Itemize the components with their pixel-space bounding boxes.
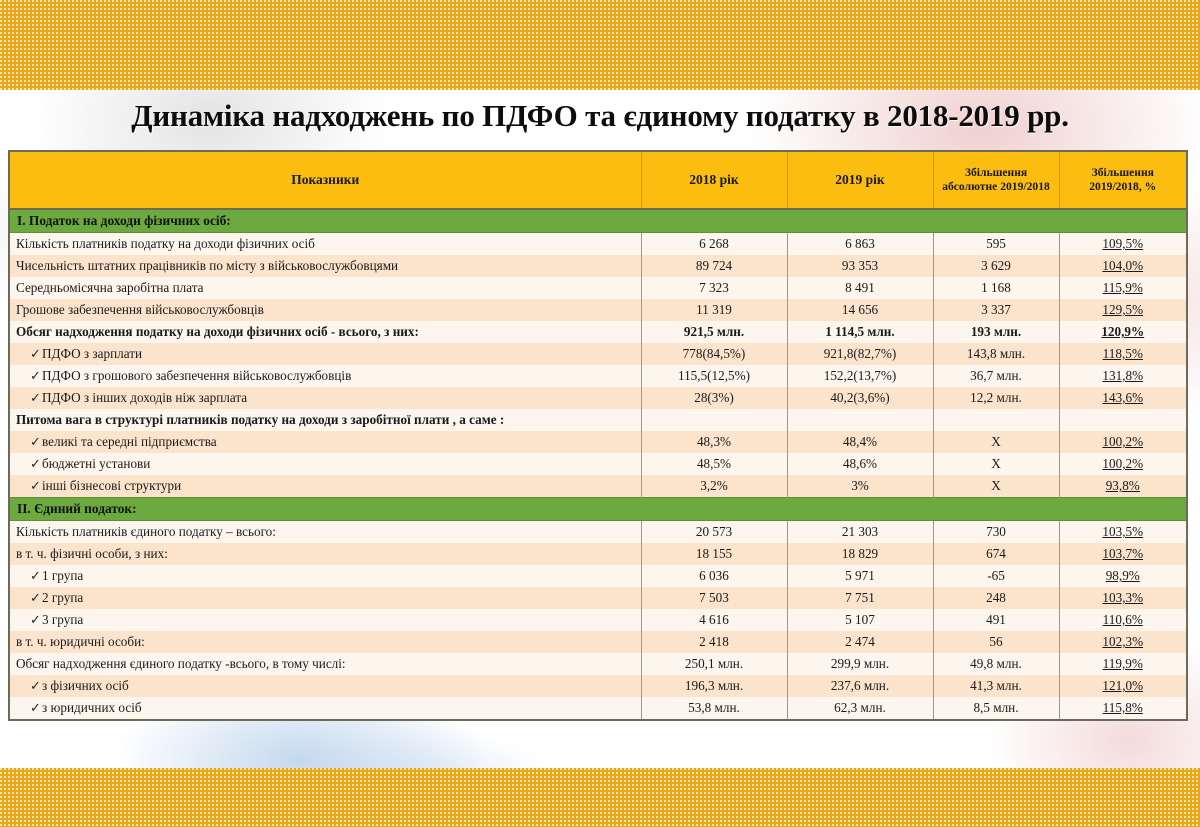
- cell-2018: 250,1 млн.: [641, 653, 787, 675]
- cell-percent: 129,5%: [1059, 299, 1186, 321]
- checkmark-icon: ✓: [16, 701, 42, 715]
- cell-2018: 6 036: [641, 565, 787, 587]
- row-label-cell: ✓інші бізнесові структури: [10, 475, 641, 498]
- cell-2018: 20 573: [641, 521, 787, 544]
- cell-2019: 62,3 млн.: [787, 697, 933, 719]
- cell-2019: 3%: [787, 475, 933, 498]
- table-row: в т. ч. юридичні особи:2 4182 47456102,3…: [10, 631, 1186, 653]
- table-row: Обсяг надходження єдиного податку -всьог…: [10, 653, 1186, 675]
- cell-2018: 6 268: [641, 233, 787, 256]
- checkmark-icon: ✓: [16, 479, 42, 493]
- table-row: ✓ПДФО з інших доходів ніж зарплата28(3%)…: [10, 387, 1186, 409]
- column-header-2018: 2018 рік: [641, 152, 787, 209]
- cell-percent: [1059, 409, 1186, 431]
- row-label-cell: ✓3 група: [10, 609, 641, 631]
- section-title: I. Податок на доходи фізичних осіб:: [10, 209, 1186, 233]
- row-label-cell: Грошове забезпечення військовослужбовців: [10, 299, 641, 321]
- cell-absolute: 1 168: [933, 277, 1059, 299]
- row-label-text: Обсяг надходження єдиного податку -всьог…: [16, 657, 346, 671]
- cell-2019: 48,4%: [787, 431, 933, 453]
- column-header-percent-increase: Збільшення 2019/2018, %: [1059, 152, 1186, 209]
- row-label-cell: Кількість платників єдиного податку – вс…: [10, 521, 641, 544]
- cell-2018: 18 155: [641, 543, 787, 565]
- cell-2019: 237,6 млн.: [787, 675, 933, 697]
- row-label-cell: Середньомісячна заробітна плата: [10, 277, 641, 299]
- row-label-text: ПДФО з зарплати: [42, 347, 142, 361]
- checkmark-icon: ✓: [16, 679, 42, 693]
- row-label-text: великі та середні підприємства: [42, 435, 217, 449]
- row-label-cell: ✓з фізичних осіб: [10, 675, 641, 697]
- financial-table: Показники 2018 рік 2019 рік Збільшення а…: [10, 152, 1186, 719]
- row-label-cell: Обсяг надходження єдиного податку -всьог…: [10, 653, 641, 675]
- cell-absolute: 3 629: [933, 255, 1059, 277]
- row-label-cell: Обсяг надходження податку на доходи фізи…: [10, 321, 641, 343]
- row-label-text: з фізичних осіб: [42, 679, 129, 693]
- checkmark-icon: ✓: [16, 369, 42, 383]
- checkmark-icon: ✓: [16, 613, 42, 627]
- row-label-cell: Питома вага в структурі платників податк…: [10, 409, 641, 431]
- cell-percent: 110,6%: [1059, 609, 1186, 631]
- cell-2018: 53,8 млн.: [641, 697, 787, 719]
- cell-2018: 7 503: [641, 587, 787, 609]
- row-label-text: Питома вага в структурі платників податк…: [16, 413, 504, 427]
- cell-percent: 118,5%: [1059, 343, 1186, 365]
- cell-2019: 40,2(3,6%): [787, 387, 933, 409]
- table-row: ✓з юридичних осіб53,8 млн.62,3 млн.8,5 м…: [10, 697, 1186, 719]
- cell-2018: 4 616: [641, 609, 787, 631]
- cell-2019: 18 829: [787, 543, 933, 565]
- cell-2019: 5 971: [787, 565, 933, 587]
- cell-absolute: [933, 409, 1059, 431]
- cell-2018: 921,5 млн.: [641, 321, 787, 343]
- cell-2018: 48,5%: [641, 453, 787, 475]
- column-header-2019: 2019 рік: [787, 152, 933, 209]
- table-row: ✓бюджетні установи48,5%48,6%X100,2%: [10, 453, 1186, 475]
- table-row: в т. ч. фізичні особи, з них:18 15518 82…: [10, 543, 1186, 565]
- cell-percent: 121,0%: [1059, 675, 1186, 697]
- row-label-text: Обсяг надходження податку на доходи фізи…: [16, 325, 419, 339]
- section-header-row: II. Єдиний податок:: [10, 498, 1186, 521]
- cell-percent: 143,6%: [1059, 387, 1186, 409]
- cell-2019: 7 751: [787, 587, 933, 609]
- cell-absolute: 595: [933, 233, 1059, 256]
- table-row: Грошове забезпечення військовослужбовців…: [10, 299, 1186, 321]
- row-label-text: Кількість платників податку на доходи фі…: [16, 237, 315, 251]
- column-header-absolute-increase: Збільшення абсолютне 2019/2018: [933, 152, 1059, 209]
- cell-percent: 103,7%: [1059, 543, 1186, 565]
- table-row: ✓великі та середні підприємства48,3%48,4…: [10, 431, 1186, 453]
- cell-percent: 115,9%: [1059, 277, 1186, 299]
- table-row: Чисельність штатних працівників по місту…: [10, 255, 1186, 277]
- cell-2018: 7 323: [641, 277, 787, 299]
- cell-2019: 299,9 млн.: [787, 653, 933, 675]
- cell-2019: 21 303: [787, 521, 933, 544]
- row-label-text: Чисельність штатних працівників по місту…: [16, 259, 398, 273]
- table-row: ✓ПДФО з грошового забезпечення військово…: [10, 365, 1186, 387]
- checkmark-icon: ✓: [16, 391, 42, 405]
- row-label-cell: ✓з юридичних осіб: [10, 697, 641, 719]
- cell-absolute: 41,3 млн.: [933, 675, 1059, 697]
- cell-percent: 100,2%: [1059, 453, 1186, 475]
- cell-percent: 98,9%: [1059, 565, 1186, 587]
- row-label-text: інші бізнесові структури: [42, 479, 181, 493]
- table-row: Питома вага в структурі платників податк…: [10, 409, 1186, 431]
- cell-2019: 8 491: [787, 277, 933, 299]
- table-row: Обсяг надходження податку на доходи фізи…: [10, 321, 1186, 343]
- cell-absolute: 674: [933, 543, 1059, 565]
- row-label-text: Кількість платників єдиного податку – вс…: [16, 525, 276, 539]
- row-label-cell: ✓бюджетні установи: [10, 453, 641, 475]
- cell-absolute: X: [933, 431, 1059, 453]
- cell-absolute: 8,5 млн.: [933, 697, 1059, 719]
- cell-percent: 115,8%: [1059, 697, 1186, 719]
- cell-2018: 196,3 млн.: [641, 675, 787, 697]
- cell-2019: [787, 409, 933, 431]
- cell-absolute: 12,2 млн.: [933, 387, 1059, 409]
- cell-absolute: 3 337: [933, 299, 1059, 321]
- row-label-cell: ✓ПДФО з інших доходів ніж зарплата: [10, 387, 641, 409]
- cell-2019: 93 353: [787, 255, 933, 277]
- row-label-text: в т. ч. юридичні особи:: [16, 635, 145, 649]
- table-head: Показники 2018 рік 2019 рік Збільшення а…: [10, 152, 1186, 209]
- cell-2019: 2 474: [787, 631, 933, 653]
- row-label-cell: Чисельність штатних працівників по місту…: [10, 255, 641, 277]
- cell-2018: 48,3%: [641, 431, 787, 453]
- checkmark-icon: ✓: [16, 347, 42, 361]
- row-label-text: Середньомісячна заробітна плата: [16, 281, 204, 295]
- cell-percent: 119,9%: [1059, 653, 1186, 675]
- cell-absolute: X: [933, 453, 1059, 475]
- cell-2019: 6 863: [787, 233, 933, 256]
- financial-table-container: Показники 2018 рік 2019 рік Збільшення а…: [8, 150, 1188, 721]
- cell-absolute: 491: [933, 609, 1059, 631]
- row-label-text: 1 група: [42, 569, 83, 583]
- table-body: I. Податок на доходи фізичних осіб:Кільк…: [10, 209, 1186, 719]
- cell-absolute: 49,8 млн.: [933, 653, 1059, 675]
- cell-absolute: 248: [933, 587, 1059, 609]
- row-label-cell: Кількість платників податку на доходи фі…: [10, 233, 641, 256]
- cell-percent: 109,5%: [1059, 233, 1186, 256]
- cell-2018: 3,2%: [641, 475, 787, 498]
- top-decorative-band: [0, 0, 1200, 90]
- row-label-cell: в т. ч. фізичні особи, з них:: [10, 543, 641, 565]
- cell-2019: 5 107: [787, 609, 933, 631]
- table-row: ✓1 група6 0365 971-6598,9%: [10, 565, 1186, 587]
- cell-absolute: 193 млн.: [933, 321, 1059, 343]
- row-label-cell: ✓2 група: [10, 587, 641, 609]
- row-label-text: ПДФО з грошового забезпечення військовос…: [42, 369, 351, 383]
- row-label-cell: ✓ПДФО з зарплати: [10, 343, 641, 365]
- checkmark-icon: ✓: [16, 569, 42, 583]
- cell-2018: 11 319: [641, 299, 787, 321]
- cell-2019: 48,6%: [787, 453, 933, 475]
- table-row: Середньомісячна заробітна плата7 3238 49…: [10, 277, 1186, 299]
- cell-absolute: 56: [933, 631, 1059, 653]
- table-row: ✓2 група7 5037 751248103,3%: [10, 587, 1186, 609]
- row-label-text: 3 група: [42, 613, 83, 627]
- cell-2019: 14 656: [787, 299, 933, 321]
- row-label-cell: в т. ч. юридичні особи:: [10, 631, 641, 653]
- row-label-cell: ✓ПДФО з грошового забезпечення військово…: [10, 365, 641, 387]
- section-title: II. Єдиний податок:: [10, 498, 1186, 521]
- checkmark-icon: ✓: [16, 457, 42, 471]
- row-label-text: в т. ч. фізичні особи, з них:: [16, 547, 168, 561]
- table-row: Кількість платників єдиного податку – вс…: [10, 521, 1186, 544]
- row-label-text: Грошове забезпечення військовослужбовців: [16, 303, 264, 317]
- section-header-row: I. Податок на доходи фізичних осіб:: [10, 209, 1186, 233]
- row-label-cell: ✓1 група: [10, 565, 641, 587]
- table-row: ✓ПДФО з зарплати778(84,5%)921,8(82,7%)14…: [10, 343, 1186, 365]
- checkmark-icon: ✓: [16, 591, 42, 605]
- table-row: ✓інші бізнесові структури3,2%3%X93,8%: [10, 475, 1186, 498]
- bottom-decorative-band: [0, 768, 1200, 827]
- cell-percent: 131,8%: [1059, 365, 1186, 387]
- cell-2019: 1 114,5 млн.: [787, 321, 933, 343]
- cell-2018: 89 724: [641, 255, 787, 277]
- row-label-text: ПДФО з інших доходів ніж зарплата: [42, 391, 247, 405]
- cell-2018: 115,5(12,5%): [641, 365, 787, 387]
- cell-2018: 28(3%): [641, 387, 787, 409]
- cell-absolute: -65: [933, 565, 1059, 587]
- cell-2018: 778(84,5%): [641, 343, 787, 365]
- row-label-text: з юридичних осіб: [42, 701, 142, 715]
- cell-2019: 152,2(13,7%): [787, 365, 933, 387]
- cell-percent: 103,3%: [1059, 587, 1186, 609]
- cell-2018: 2 418: [641, 631, 787, 653]
- row-label-text: 2 група: [42, 591, 83, 605]
- cell-percent: 103,5%: [1059, 521, 1186, 544]
- checkmark-icon: ✓: [16, 435, 42, 449]
- cell-absolute: 36,7 млн.: [933, 365, 1059, 387]
- cell-percent: 100,2%: [1059, 431, 1186, 453]
- cell-2018: [641, 409, 787, 431]
- table-row: ✓3 група4 6165 107491110,6%: [10, 609, 1186, 631]
- cell-absolute: 730: [933, 521, 1059, 544]
- table-row: Кількість платників податку на доходи фі…: [10, 233, 1186, 256]
- page-title: Динаміка надходжень по ПДФО та єдиному п…: [0, 98, 1200, 134]
- cell-2019: 921,8(82,7%): [787, 343, 933, 365]
- cell-percent: 102,3%: [1059, 631, 1186, 653]
- cell-percent: 93,8%: [1059, 475, 1186, 498]
- table-header-row: Показники 2018 рік 2019 рік Збільшення а…: [10, 152, 1186, 209]
- cell-absolute: 143,8 млн.: [933, 343, 1059, 365]
- row-label-cell: ✓великі та середні підприємства: [10, 431, 641, 453]
- cell-percent: 120,9%: [1059, 321, 1186, 343]
- table-row: ✓з фізичних осіб196,3 млн.237,6 млн.41,3…: [10, 675, 1186, 697]
- cell-absolute: X: [933, 475, 1059, 498]
- row-label-text: бюджетні установи: [42, 457, 150, 471]
- cell-percent: 104,0%: [1059, 255, 1186, 277]
- column-header-indicator: Показники: [10, 152, 641, 209]
